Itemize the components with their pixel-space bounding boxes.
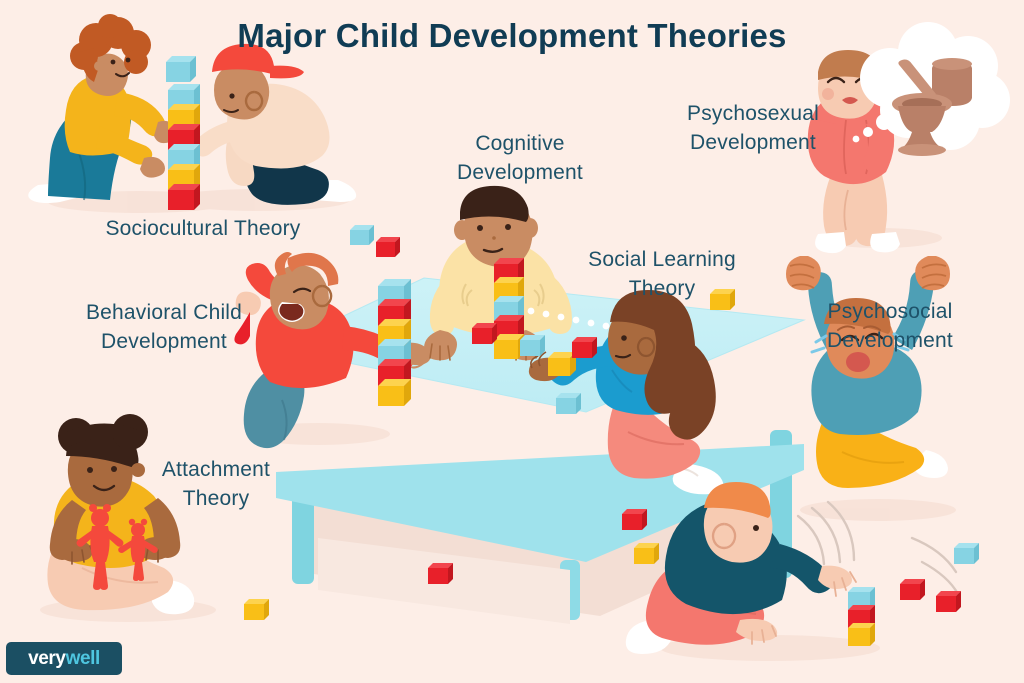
figure-psychosocial-child bbox=[786, 256, 950, 488]
block-tower-sociocultural bbox=[166, 56, 200, 210]
verywell-logo[interactable]: verywell bbox=[6, 642, 122, 675]
page-title: Major Child Development Theories bbox=[0, 17, 1024, 55]
label-cognitive-development: Cognitive Development bbox=[435, 129, 605, 187]
label-behavioral-child-development: Behavioral Child Development bbox=[74, 298, 254, 356]
infographic-canvas: Major Child Development Theories Sociocu… bbox=[0, 0, 1024, 683]
logo-text-well: well bbox=[66, 648, 100, 670]
label-social-learning-theory: Social Learning Theory bbox=[578, 245, 746, 303]
label-attachment-theory: Attachment Theory bbox=[142, 455, 290, 513]
label-psychosocial-development: Psychosocial Development bbox=[805, 297, 975, 355]
label-sociocultural-theory: Sociocultural Theory bbox=[98, 214, 308, 243]
label-psychosexual-development: Psychosexual Development bbox=[672, 99, 834, 157]
block-tower-behavioral bbox=[378, 279, 411, 406]
logo-text-very: very bbox=[28, 648, 66, 670]
block-tower-cognitive bbox=[494, 258, 524, 359]
figure-attachment-girl bbox=[47, 414, 194, 614]
